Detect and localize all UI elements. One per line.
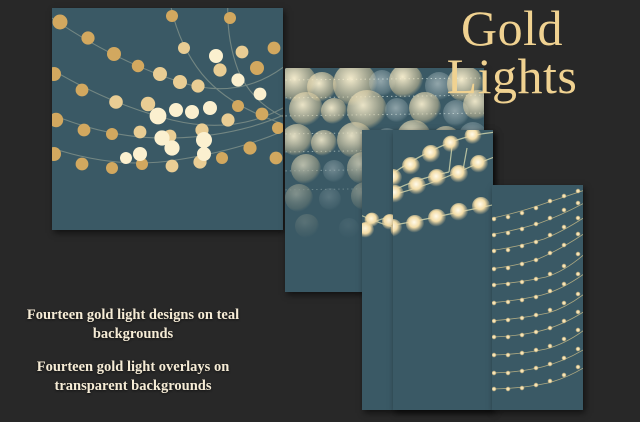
page-title: Gold Lights: [392, 4, 632, 100]
string-lights-flat-artwork: [52, 8, 283, 230]
panel-string-lights-flat[interactable]: [52, 8, 283, 230]
bulb-group-flat: [52, 10, 283, 174]
glowing-bulbs-artwork: [393, 130, 493, 410]
panel-glowing-bulbs[interactable]: [393, 130, 493, 410]
title-line-1: Gold: [392, 4, 632, 52]
fairy-dot-group: [492, 188, 581, 391]
fine-fairy-lights-artwork: [492, 185, 583, 410]
description-line-2: Fourteen gold light overlays on transpar…: [2, 358, 264, 395]
product-preview-canvas: Gold Lights Fourteen gold light designs …: [0, 0, 640, 422]
title-line-2: Lights: [392, 52, 632, 100]
panel-fine-fairy-lights[interactable]: [492, 185, 583, 410]
description-line-1: Fourteen gold light designs on teal back…: [2, 306, 264, 343]
